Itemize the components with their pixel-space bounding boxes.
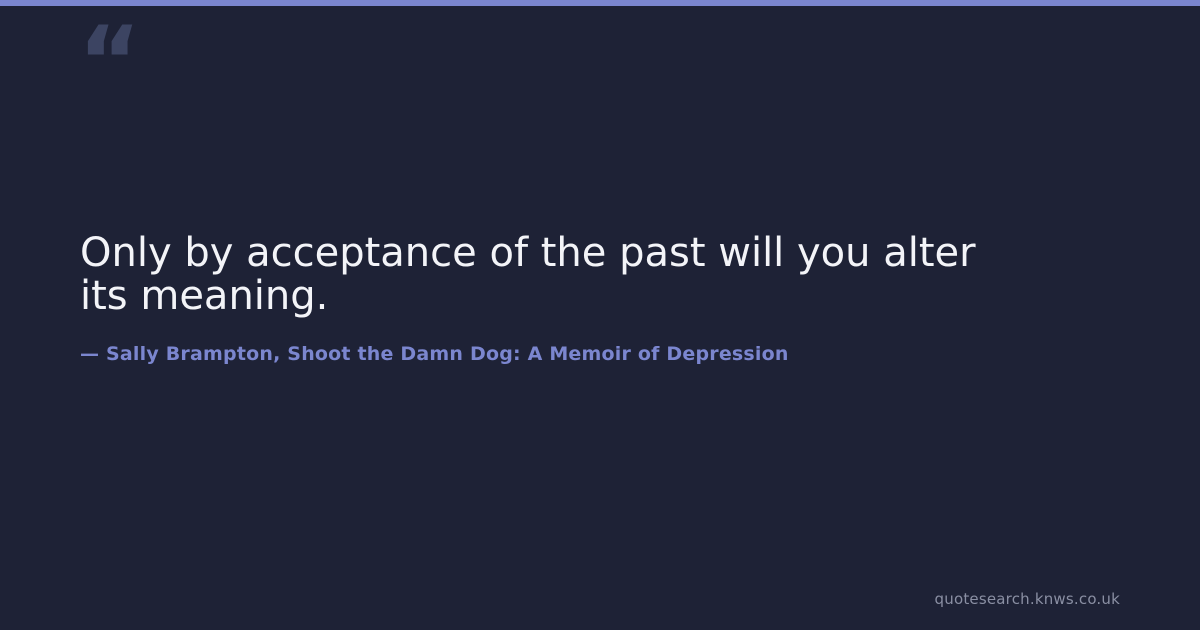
- quote-text: Only by acceptance of the past will you …: [80, 232, 1000, 318]
- quote-content: Only by acceptance of the past will you …: [80, 232, 1090, 367]
- top-accent-bar: [0, 0, 1200, 6]
- quote-attribution: — Sally Brampton, Shoot the Damn Dog: A …: [80, 341, 1090, 367]
- footer-site-url: quotesearch.knws.co.uk: [935, 590, 1120, 608]
- decorative-quotation-mark-icon: “: [78, 14, 139, 110]
- quote-card: “ Only by acceptance of the past will yo…: [0, 0, 1200, 630]
